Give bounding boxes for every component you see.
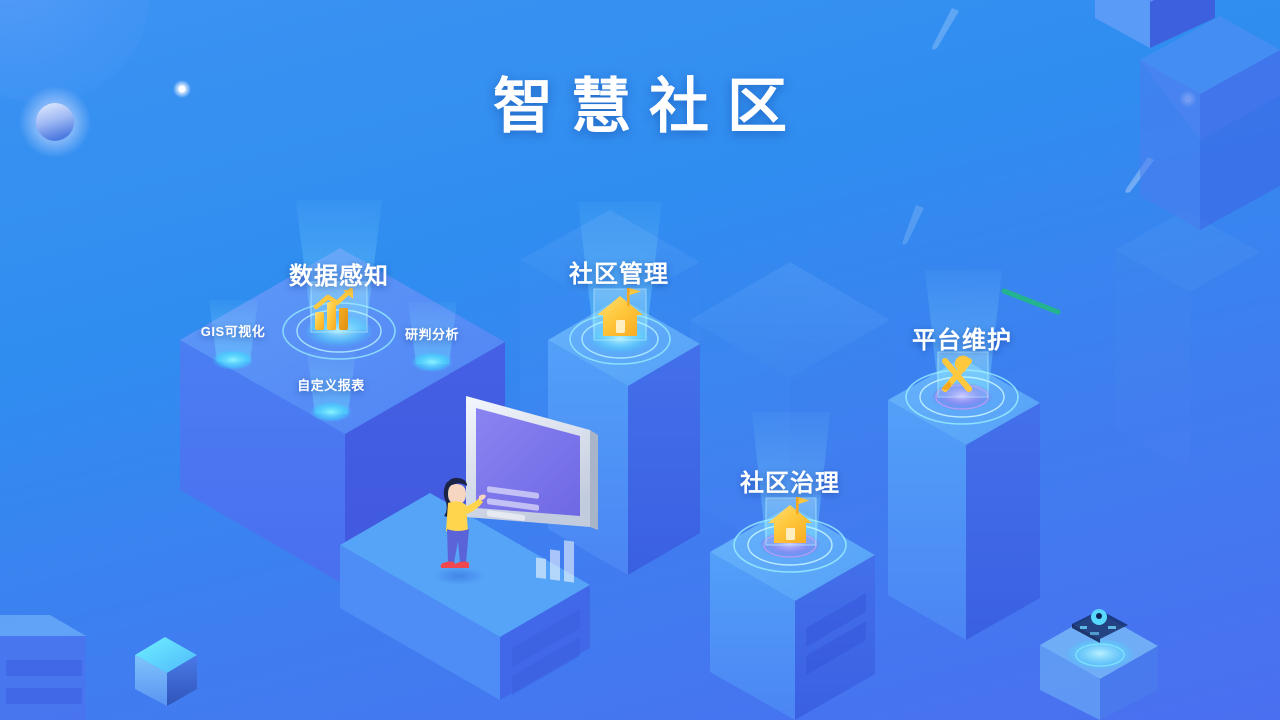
person-shirt: [446, 501, 468, 533]
sublabel-custom-report[interactable]: 自定义报表: [297, 375, 365, 394]
person-shadow: [433, 567, 485, 585]
page-title: 智慧社区: [0, 58, 1280, 145]
sublabel-judgement-analysis[interactable]: 研判分析: [405, 324, 459, 343]
screen-frame-edge: [590, 430, 598, 530]
screen-bar-chart: [536, 540, 574, 582]
smart-community-poster: 智慧社区 数据感知 社区管理 社区治理 平台维护 GIS可视化 研判分析 自定义…: [0, 0, 1280, 720]
node-label-community-governance[interactable]: 社区治理: [740, 463, 840, 498]
person-shoe-right: [455, 562, 469, 569]
sublabel-gis-visualization[interactable]: GIS可视化: [201, 321, 265, 340]
person-pants: [447, 529, 469, 563]
node-label-platform-maintenance[interactable]: 平台维护: [912, 320, 1012, 355]
node-label-community-management[interactable]: 社区管理: [569, 254, 669, 289]
person-shoe-left: [441, 562, 455, 569]
person-head: [448, 484, 466, 504]
node-label-data-perception[interactable]: 数据感知: [289, 256, 389, 291]
dashboard-screen[interactable]: [466, 396, 598, 583]
